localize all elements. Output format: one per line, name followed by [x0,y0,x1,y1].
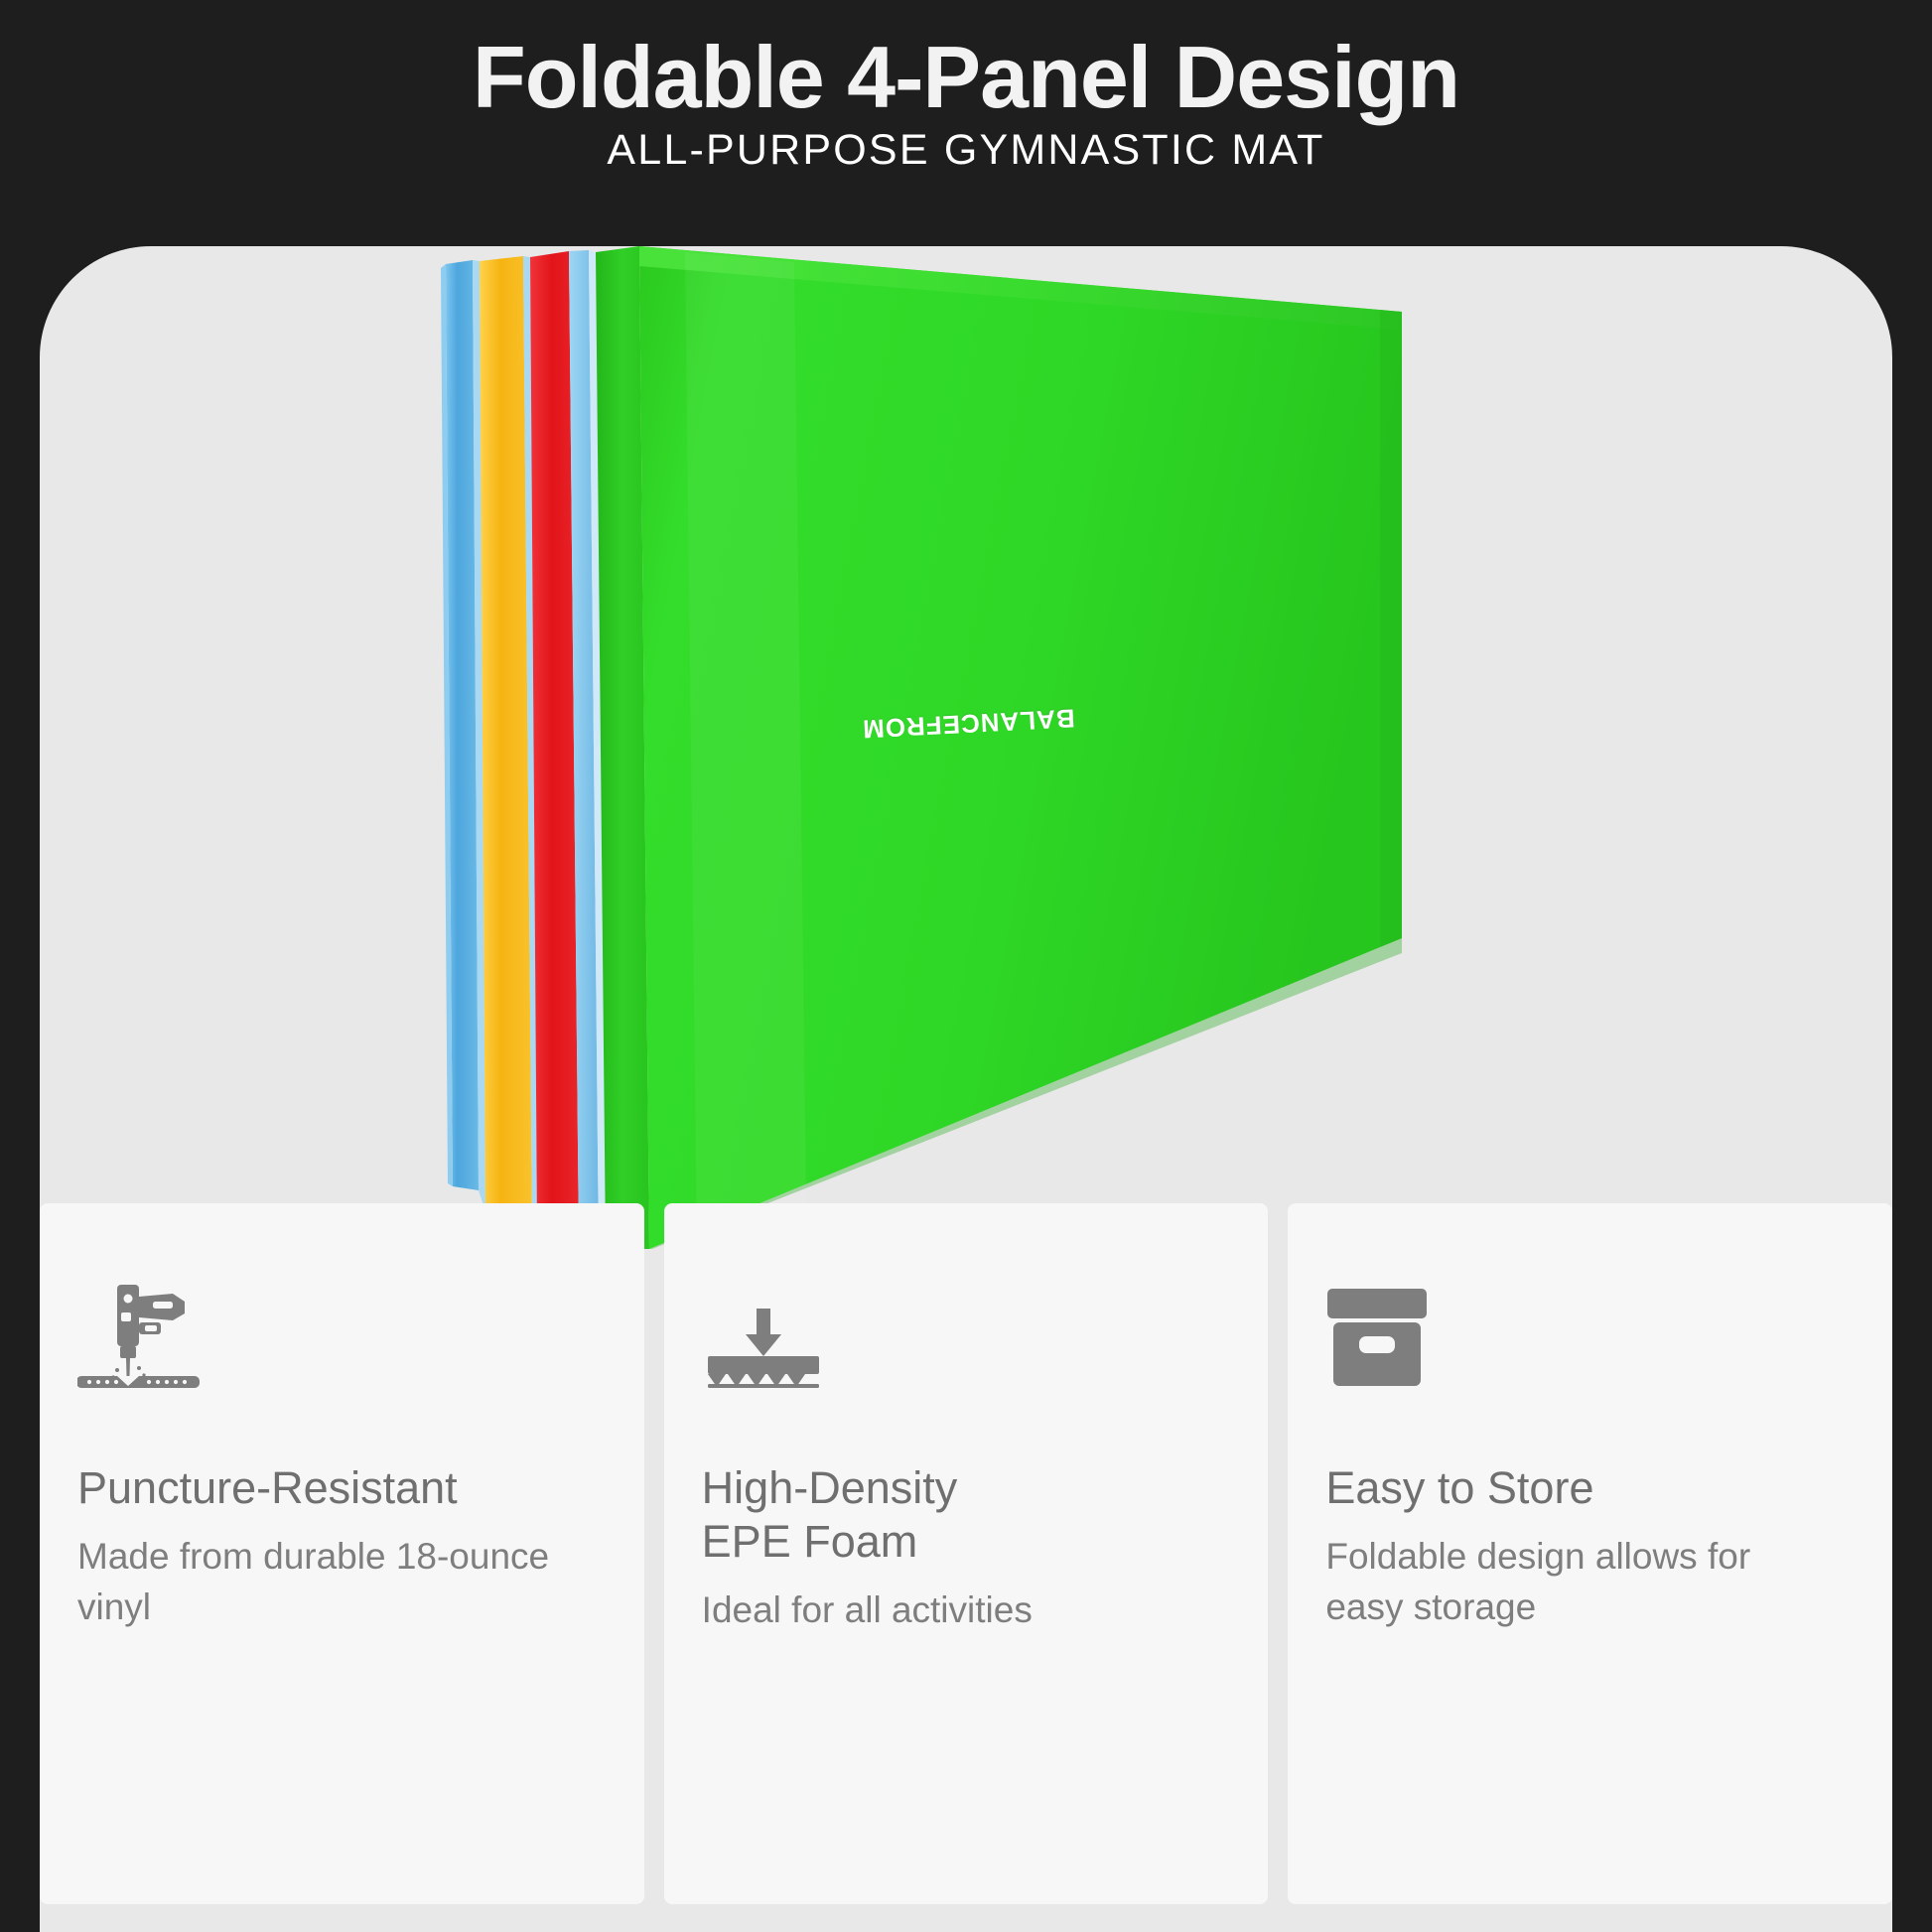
folded-mat-illustration [40,246,1892,1249]
feature-card-body: Ideal for all activities [702,1585,1178,1635]
feature-card-body: Foldable design allows for easy storage [1325,1531,1802,1632]
puncture-drill-icon [77,1283,607,1388]
product-infographic: Foldable 4-Panel Design ALL-PURPOSE GYMN… [0,0,1932,1932]
product-image: BALANCEFROM [40,246,1892,1249]
mat-panel-yellow [473,256,532,1227]
feature-card-title: High-Density EPE Foam [702,1461,1231,1569]
page-subtitle: ALL-PURPOSE GYMNASTIC MAT [0,122,1932,178]
header-banner: Foldable 4-Panel Design ALL-PURPOSE GYMN… [0,0,1932,248]
mat-panel-green-front [639,246,1402,1249]
feature-card-easy-to-store[interactable]: Easy to Store Foldable design allows for… [1288,1203,1892,1904]
page-title: Foldable 4-Panel Design [0,27,1932,128]
feature-card-body: Made from durable 18-ounce vinyl [77,1531,554,1632]
content-panel: BALANCEFROM [40,246,1892,1932]
storage-box-icon [1325,1283,1855,1388]
feature-card-puncture-resistant[interactable]: Puncture-Resistant Made from durable 18-… [40,1203,644,1904]
foam-compression-icon [702,1283,1231,1388]
feature-card-title: Puncture-Resistant [77,1461,607,1515]
feature-cards: Puncture-Resistant Made from durable 18-… [40,1203,1892,1932]
feature-card-title: Easy to Store [1325,1461,1855,1515]
feature-card-high-density-epe-foam[interactable]: High-Density EPE Foam Ideal for all acti… [664,1203,1269,1904]
mat-panel-blue [441,260,479,1190]
